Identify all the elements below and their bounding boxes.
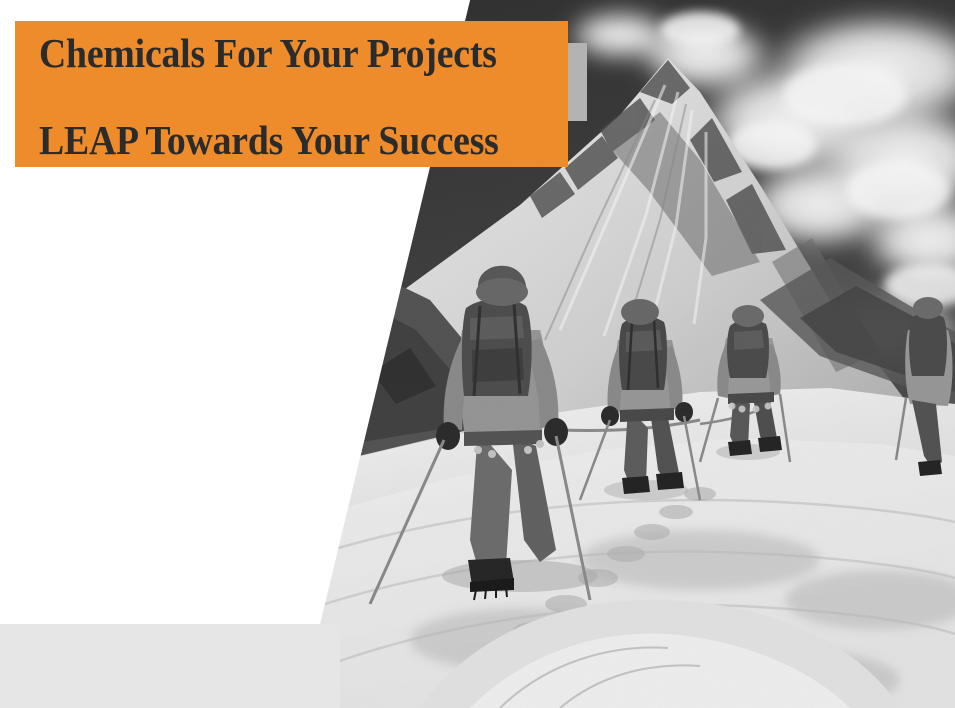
headline-line-2: LEAP Towards Your Success [39, 118, 499, 162]
bottom-grey-band [0, 624, 340, 708]
slide-canvas: Chemicals For Your Projects LEAP Towards… [0, 0, 955, 708]
headline-line-1: Chemicals For Your Projects [39, 31, 497, 75]
headline-orange-block: Chemicals For Your Projects LEAP Towards… [15, 21, 568, 167]
